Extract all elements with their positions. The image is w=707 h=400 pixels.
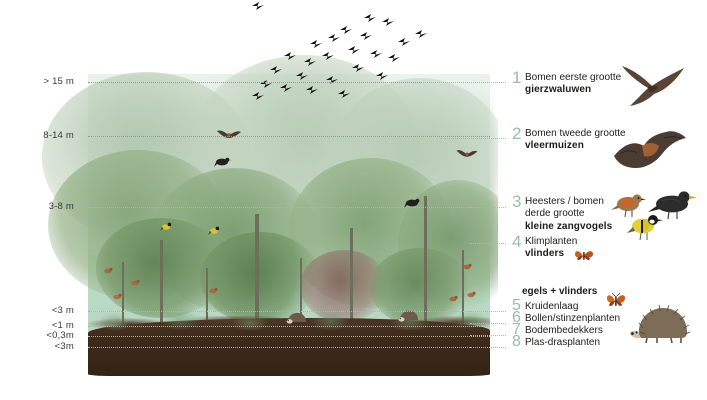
legend-label-2: Bomen tweede grootte: [525, 128, 626, 140]
height-rule-6: [88, 347, 490, 348]
height-label-under-3m: <3 m: [0, 305, 74, 316]
leader-line-8: [470, 347, 506, 348]
leader-line-7: [470, 335, 506, 336]
height-rule-4: [88, 326, 490, 327]
great-tit-icon: [627, 211, 665, 243]
infographic-root: > 15 m 8-14 m 3-8 m <3 m <1 m <0,3m <3m …: [0, 0, 707, 400]
legend-label-1: Bomen eerste grootte: [525, 72, 621, 84]
legend-species-4: vlinders: [525, 248, 577, 260]
legend-label-3a: Heesters / bomen: [525, 196, 612, 208]
legend-label-6: Bollen/stinzenplanten: [525, 313, 620, 325]
legend-species-2: vleermuizen: [525, 140, 626, 152]
legend-label-3b: derde grootte: [525, 208, 612, 220]
legend-label-4: Klimplanten: [525, 236, 577, 248]
legend-label-8: Plas-drasplanten: [525, 337, 600, 349]
legend-number-8: 8: [512, 336, 525, 348]
legend-text-3: Heesters / bomen derde grootte kleine za…: [525, 196, 612, 233]
leader-line-2: [440, 138, 506, 139]
height-rule-5: [88, 336, 490, 337]
leader-line-3: [470, 207, 506, 208]
legend-number-2: 2: [512, 127, 525, 140]
leader-line-1: [420, 82, 506, 83]
legend-number-4: 4: [512, 235, 525, 248]
leader-line-5: [470, 311, 506, 312]
height-label-over-15m: > 15 m: [0, 76, 74, 87]
height-label-under-3m-2: <3m: [0, 341, 74, 352]
legend-number-3: 3: [512, 195, 525, 208]
legend-number-1: 1: [512, 71, 525, 84]
legend-text-4: Klimplanten vlinders: [525, 236, 577, 261]
swift-icon: [618, 60, 690, 110]
height-label-under-03m: <0,3m: [0, 330, 74, 341]
leader-line-6: [470, 323, 506, 324]
height-label-3-8m: 3-8 m: [0, 201, 74, 212]
butterfly-icon: [606, 292, 626, 310]
legend-label-5: Kruidenlaag: [525, 301, 578, 313]
ground-group-heading: egels + vlinders: [522, 286, 597, 297]
cross-section-illustration: [0, 0, 498, 378]
legend-species-3: kleine zangvogels: [525, 221, 612, 233]
bat-icon: [612, 126, 688, 174]
height-label-8-14m: 8-14 m: [0, 130, 74, 141]
leader-line-4: [470, 243, 506, 244]
hedgehog-icon: [629, 298, 691, 344]
legend-label-7: Bodembedekkers: [525, 325, 603, 337]
butterfly-small-icon: [574, 248, 594, 263]
legend-text-1: Bomen eerste grootte gierzwaluwen: [525, 72, 621, 97]
height-rule-3: [88, 311, 490, 312]
hedgehog-in-scene: [286, 310, 308, 324]
height-rule-2: [88, 207, 490, 208]
legend-species-1: gierzwaluwen: [525, 84, 621, 96]
legend-text-2: Bomen tweede grootte vleermuizen: [525, 128, 626, 153]
height-rule-1: [88, 136, 490, 137]
